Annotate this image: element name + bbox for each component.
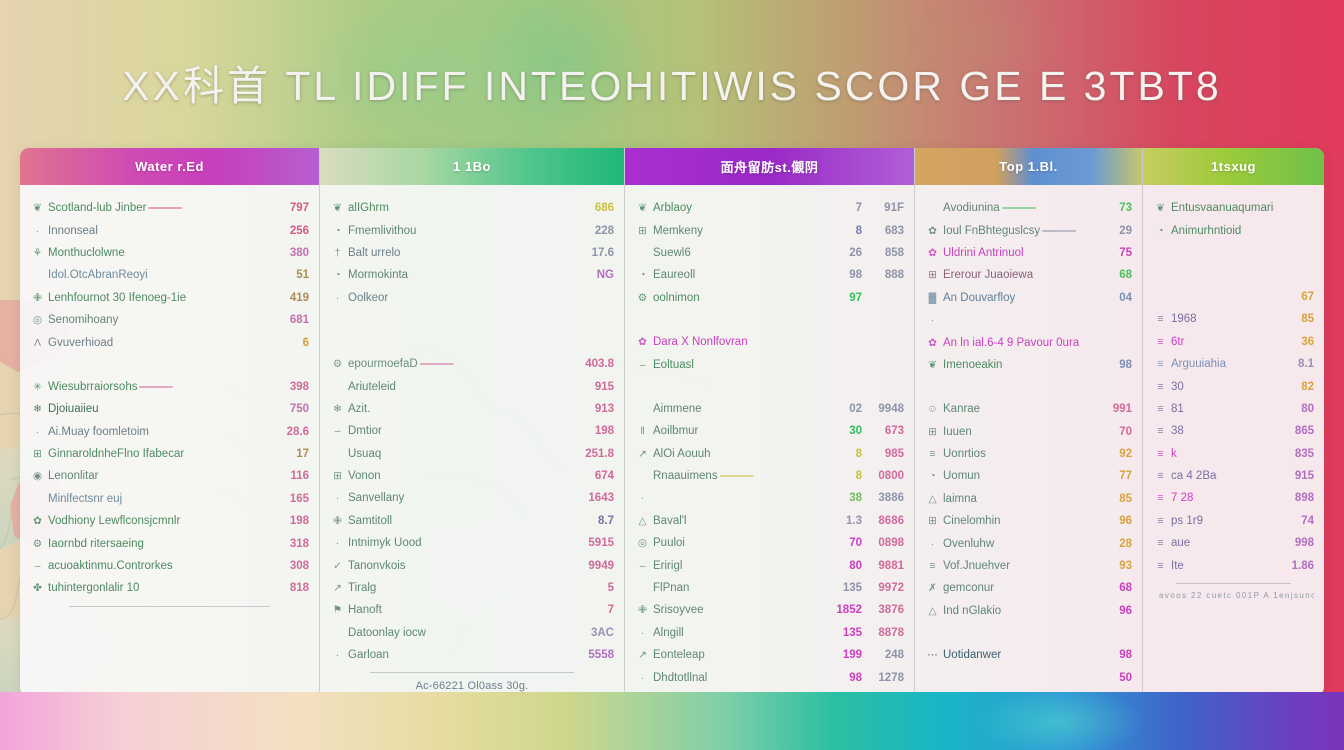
list-item[interactable]: ❄Azit.913 bbox=[330, 398, 614, 420]
list-item[interactable]: ⚑Hanoft7 bbox=[330, 599, 614, 621]
panel-body-5: ❦Entusvaanuaqumaria◔Animurhntioid 67≡196… bbox=[1143, 185, 1324, 696]
panel-board: Water r.Ed❦Scotland-lub Jinber797·Innons… bbox=[20, 148, 1324, 696]
list-item[interactable]: ⚘Monthuclolwne380 bbox=[30, 242, 309, 264]
value-primary: 198 bbox=[269, 515, 309, 527]
list-item[interactable]: ⊞Memkeny8683 bbox=[635, 219, 904, 241]
list-item[interactable]: Ariuteleid915 bbox=[330, 375, 614, 397]
list-item[interactable]: △Baval'l1.38686 bbox=[635, 510, 904, 532]
num-icon: ≡ bbox=[1153, 470, 1168, 482]
panel-body-3: ❦Arblaoy791F⊞Memkeny8683 Suewl626858◔Eau… bbox=[625, 185, 914, 696]
list-item-label: Aimmene bbox=[650, 403, 822, 415]
dash-icon: – bbox=[635, 560, 650, 572]
value-primary: 98 bbox=[1092, 359, 1132, 371]
list-item[interactable]: ·Ai.Muay foomletoim28.6 bbox=[30, 421, 309, 443]
list-item[interactable]: ·Intnimyk Uood5915 bbox=[330, 532, 614, 554]
value-primary: 50 bbox=[1092, 672, 1132, 684]
panel-footnote: Ac-66221 Ol0ass 30g. bbox=[330, 677, 614, 692]
list-item[interactable]: ↗AlOi Aouuh8985 bbox=[635, 443, 904, 465]
list-item[interactable]: ◔MormokintaNG bbox=[330, 264, 614, 286]
num-icon: ≡ bbox=[1153, 403, 1168, 415]
list-item[interactable]: ·Sanvellany1643 bbox=[330, 487, 614, 509]
panel-header-3[interactable]: 面舟留肪st.儭阴 bbox=[625, 148, 914, 185]
list-item[interactable]: FlPnan1359972 bbox=[635, 577, 904, 599]
value-primary: 02 bbox=[822, 403, 862, 415]
row-spacer bbox=[925, 376, 1132, 398]
sprout-icon: ✙ bbox=[330, 515, 345, 527]
list-item-label: oolnimon bbox=[650, 292, 822, 304]
list-item[interactable]: Avodiunina73 bbox=[925, 197, 1132, 219]
num-icon: ≡ bbox=[1153, 515, 1168, 527]
list-item-label: Ind nGlakio bbox=[940, 605, 1092, 617]
dash-icon: – bbox=[30, 560, 45, 572]
value-primary: 82 bbox=[1274, 381, 1314, 393]
value-primary: 17 bbox=[269, 448, 309, 460]
arrow-icon: ↗ bbox=[330, 582, 345, 594]
panel-2: 1 1Bo❦alIGhrm686◔Fmemlivithou228†Balt ur… bbox=[320, 148, 625, 696]
value-primary: 73 bbox=[1092, 202, 1132, 214]
list-item-label: Djoiuaiieu bbox=[45, 403, 269, 415]
list-item[interactable]: ≡Arguuiahia8.1 bbox=[1153, 353, 1314, 375]
list-item-label: Scotland-lub Jinber bbox=[45, 202, 269, 214]
list-item-label: 6tr bbox=[1168, 336, 1274, 348]
list-item[interactable]: ≡ca 4 2Ba915 bbox=[1153, 465, 1314, 487]
dot-icon: · bbox=[635, 627, 650, 639]
grid-icon: ⊞ bbox=[330, 470, 345, 482]
list-item[interactable]: ≡ps 1r974 bbox=[1153, 510, 1314, 532]
cross-icon: ✗ bbox=[925, 582, 940, 594]
list-item[interactable]: ≡3082 bbox=[1153, 375, 1314, 397]
blank-icon bbox=[330, 627, 345, 639]
list-item-label: 7 28 bbox=[1168, 492, 1274, 504]
value-primary: 80 bbox=[1274, 403, 1314, 415]
compass-icon: Λ bbox=[30, 337, 45, 349]
list-item-label: Dmtior bbox=[345, 425, 574, 437]
list-item[interactable]: ✿An ln ial.6-4 9 Pavour 0ura bbox=[925, 331, 1132, 353]
leaf-icon: ❦ bbox=[330, 202, 345, 214]
list-item-label: 38 bbox=[1168, 425, 1274, 437]
list-item[interactable]: ✿Ioul FnBhteguslcsy29 bbox=[925, 219, 1132, 241]
list-item[interactable]: –Eoltuasl bbox=[635, 353, 904, 375]
value-primary: 67 bbox=[1274, 291, 1314, 303]
list-item-label: Uonrtios bbox=[940, 448, 1092, 460]
list-item[interactable]: ≡6tr36 bbox=[1153, 331, 1314, 353]
list-item[interactable]: ◔Animurhntioid bbox=[1153, 219, 1314, 241]
list-item-label: Uldrini Antrinuol bbox=[940, 247, 1092, 259]
value-primary: 686 bbox=[574, 202, 614, 214]
list-item[interactable]: ≡7 28898 bbox=[1153, 487, 1314, 509]
list-item-label: Avodiunina bbox=[940, 202, 1092, 214]
list-item[interactable]: ⊞Cinelomhin96 bbox=[925, 510, 1132, 532]
list-item-label: Oolkeor bbox=[345, 292, 574, 304]
gear-icon: ⚙ bbox=[330, 358, 345, 370]
page-title: XX科首 TL IDIFF INTEOHITIWIS SCOR GE E 3TB… bbox=[0, 52, 1344, 112]
list-item-label: gemconur bbox=[940, 582, 1092, 594]
list-item-label: Arblaoy bbox=[650, 202, 822, 214]
list-item-label: AlOi Aouuh bbox=[650, 448, 822, 460]
value-primary: 308 bbox=[269, 560, 309, 572]
leader-line bbox=[139, 386, 173, 388]
row-spacer bbox=[925, 622, 1132, 644]
list-item-label: Sanvellany bbox=[345, 492, 574, 504]
list-item[interactable]: ⊞Iuuen70 bbox=[925, 421, 1132, 443]
tree-icon: † bbox=[330, 247, 345, 259]
screen-root: XX科首 TL IDIFF INTEOHITIWIS SCOR GE E 3TB… bbox=[0, 0, 1344, 750]
list-item[interactable]: ✤tuhintergonlalir 10818 bbox=[30, 577, 309, 599]
value-primary: 398 bbox=[269, 381, 309, 393]
value-primary: 98 bbox=[822, 672, 862, 684]
value-primary: 28.6 bbox=[269, 426, 309, 438]
list-item[interactable]: ❦Scotland-lub Jinber797 bbox=[30, 197, 309, 219]
leader-line bbox=[720, 475, 754, 477]
value-primary: 8.1 bbox=[1274, 358, 1314, 370]
list-item[interactable]: 67 bbox=[1153, 286, 1314, 308]
num-icon: ≡ bbox=[1153, 448, 1168, 460]
list-item-label: Lenhfournot 30 Ifenoeg-1ie bbox=[45, 292, 269, 304]
list-item[interactable]: Suewl626858 bbox=[635, 242, 904, 264]
list-item-label: Wiesubrraiorsohs bbox=[45, 381, 269, 393]
panel-header-1[interactable]: Water r.Ed bbox=[20, 148, 319, 185]
list-item[interactable]: Rnaauimens80800 bbox=[635, 465, 904, 487]
list-item[interactable]: Usuaq251.8 bbox=[330, 443, 614, 465]
list-item[interactable]: · bbox=[925, 309, 1132, 331]
flake-icon: ❄ bbox=[30, 403, 45, 415]
blank-icon bbox=[635, 403, 650, 415]
list-item-label: acuoaktinmu.Controrkes bbox=[45, 560, 269, 572]
value-primary: 6 bbox=[269, 337, 309, 349]
panel-header-4[interactable]: Top 1.Bl. bbox=[915, 148, 1142, 185]
sprout-icon: ✙ bbox=[30, 292, 45, 304]
grid-icon: ⊞ bbox=[925, 515, 940, 527]
list-item[interactable]: ❦Arblaoy791F bbox=[635, 197, 904, 219]
list-item-label: FlPnan bbox=[650, 582, 822, 594]
list-item[interactable]: ΛGvuverhioad6 bbox=[30, 331, 309, 353]
value-primary: 818 bbox=[269, 582, 309, 594]
value-primary: 991 bbox=[1092, 403, 1132, 415]
num-icon: ≡ bbox=[1153, 358, 1168, 370]
list-item[interactable]: ≡Uonrtios92 bbox=[925, 443, 1132, 465]
list-item-label: GinnaroldnheFlno Ifabecar bbox=[45, 448, 269, 460]
list-item-label: ps 1r9 bbox=[1168, 515, 1274, 527]
value-primary: 98 bbox=[822, 269, 862, 281]
list-item[interactable]: ≡196885 bbox=[1153, 308, 1314, 330]
list-item[interactable]: Datoonlay iocw3AC bbox=[330, 622, 614, 644]
value-primary: 68 bbox=[1092, 269, 1132, 281]
list-item[interactable]: ⊞Ererour Juaoiewa68 bbox=[925, 264, 1132, 286]
list-item[interactable]: ✳Wiesubrraiorsohs398 bbox=[30, 376, 309, 398]
dot-icon: · bbox=[330, 492, 345, 504]
blank-icon bbox=[925, 202, 940, 214]
panel-header-2[interactable]: 1 1Bo bbox=[320, 148, 624, 185]
list-item[interactable]: ⚙oolnimon97 bbox=[635, 287, 904, 309]
value-secondary: 91F bbox=[862, 202, 904, 214]
list-item[interactable]: ≡38865 bbox=[1153, 420, 1314, 442]
list-item[interactable]: ·Ovenluhw28 bbox=[925, 532, 1132, 554]
value-primary: 135 bbox=[822, 627, 862, 639]
dot-icon: · bbox=[635, 492, 650, 504]
list-item[interactable]: 50 bbox=[925, 666, 1132, 688]
list-item-label: Fmemlivithou bbox=[345, 225, 574, 237]
list-item[interactable]: ✗gemconur68 bbox=[925, 577, 1132, 599]
panel-footnote: avoos 22 cuetc 001P A 1enjsunom bbox=[1153, 588, 1314, 600]
list-item[interactable]: ◔Fmemlivithou228 bbox=[330, 219, 614, 241]
value-primary: 80 bbox=[822, 560, 862, 572]
list-item[interactable]: ☺Kanrae991 bbox=[925, 398, 1132, 420]
list-item[interactable]: ◔Uomun77 bbox=[925, 465, 1132, 487]
value-secondary: 9881 bbox=[862, 560, 904, 572]
value-primary: 96 bbox=[1092, 605, 1132, 617]
list-item[interactable]: ✙Samtitoll8.7 bbox=[330, 510, 614, 532]
value-primary: 26 bbox=[822, 247, 862, 259]
clock-icon: ◔ bbox=[330, 225, 345, 237]
list-item[interactable]: ⊞GinnaroldnheFlno Ifabecar17 bbox=[30, 443, 309, 465]
list-item[interactable]: △Ind nGlakio96 bbox=[925, 600, 1132, 622]
list-item[interactable]: ✿Vodhiony Lewflconsjcmnlr198 bbox=[30, 510, 309, 532]
check-icon: ✓ bbox=[330, 560, 345, 572]
value-primary: 8 bbox=[822, 448, 862, 460]
leaf-icon: ❦ bbox=[30, 202, 45, 214]
row-spacer bbox=[30, 354, 309, 376]
list-item[interactable]: ◔Eaureoll98888 bbox=[635, 264, 904, 286]
list-item[interactable]: ‖Aoilbmur30673 bbox=[635, 420, 904, 442]
value-primary: 85 bbox=[1092, 493, 1132, 505]
panel-body-2: ❦alIGhrm686◔Fmemlivithou228†Balt urrelo1… bbox=[320, 185, 624, 696]
list-item-label: Animurhntioid bbox=[1168, 225, 1274, 237]
plant-icon: ⚘ bbox=[30, 247, 45, 259]
gear-icon: ⚙ bbox=[635, 292, 650, 304]
blank-icon bbox=[330, 381, 345, 393]
list-item-label: Hanoft bbox=[345, 604, 574, 616]
panel-header-5[interactable]: 1tsxug bbox=[1143, 148, 1324, 185]
value-primary: 674 bbox=[574, 470, 614, 482]
list-item-label: Gvuverhioad bbox=[45, 337, 269, 349]
list-item[interactable]: ·Innonseal256 bbox=[30, 219, 309, 241]
list-item[interactable]: ·Alngill1358878 bbox=[635, 622, 904, 644]
dot-icon: · bbox=[330, 649, 345, 661]
dot-icon: · bbox=[635, 672, 650, 684]
value-primary: 5 bbox=[574, 582, 614, 594]
list-item-label: Rnaauimens bbox=[650, 470, 822, 482]
list-item-label: Dhdtotllnal bbox=[650, 672, 822, 684]
list-item[interactable]: –acuoaktinmu.Controrkes308 bbox=[30, 555, 309, 577]
list-item[interactable]: ·Garloan5558 bbox=[330, 644, 614, 666]
row-spacer bbox=[1153, 242, 1314, 264]
value-secondary: 8878 bbox=[862, 627, 904, 639]
list-item[interactable]: ✙Srisoyvee18523876 bbox=[635, 599, 904, 621]
value-primary: 9949 bbox=[574, 560, 614, 572]
clock-icon: ◔ bbox=[1153, 225, 1168, 237]
list-item[interactable]: ✓Tanonvkois9949 bbox=[330, 554, 614, 576]
value-primary: 93 bbox=[1092, 560, 1132, 572]
list-item-label: Puuloi bbox=[650, 537, 822, 549]
num-icon: ≡ bbox=[1153, 381, 1168, 393]
list-item-label: Kanrae bbox=[940, 403, 1092, 415]
value-secondary: 673 bbox=[862, 425, 904, 437]
list-item[interactable]: ❦Imenoeakin98 bbox=[925, 354, 1132, 376]
list-item[interactable]: ≡k835 bbox=[1153, 443, 1314, 465]
row-spacer bbox=[635, 309, 904, 331]
grid-icon: ⊞ bbox=[635, 225, 650, 237]
value-secondary: 3876 bbox=[862, 604, 904, 616]
blank-icon bbox=[635, 247, 650, 259]
num-icon: ≡ bbox=[1153, 336, 1168, 348]
value-primary: 1.86 bbox=[1274, 560, 1314, 572]
list-item-label: Ioul FnBhteguslcsy bbox=[940, 225, 1092, 237]
list-item[interactable]: Minlfectsnr euj165 bbox=[30, 488, 309, 510]
list-item-label: Memkeny bbox=[650, 225, 822, 237]
value-primary: 681 bbox=[269, 314, 309, 326]
list-item[interactable]: ⋯Uotidanwer98 bbox=[925, 644, 1132, 666]
list-item[interactable]: ❦Entusvaanuaqumaria bbox=[1153, 197, 1314, 219]
list-item-label: Arguuiahia bbox=[1168, 358, 1274, 370]
dot-icon: · bbox=[30, 426, 45, 438]
list-item[interactable]: ⊞Vonon674 bbox=[330, 465, 614, 487]
list-item-label: Garloan bbox=[345, 649, 574, 661]
gear-icon: ⚙ bbox=[30, 538, 45, 550]
value-primary: 403.8 bbox=[574, 358, 614, 370]
list-item[interactable]: ◎Puuloi700898 bbox=[635, 532, 904, 554]
value-primary: 797 bbox=[269, 202, 309, 214]
num-icon: ≡ bbox=[1153, 313, 1168, 325]
star-icon: ✳ bbox=[30, 381, 45, 393]
list-item[interactable]: ❄Djoiuaiieu750 bbox=[30, 398, 309, 420]
list-item[interactable]: ⚙Iaornbd ritersaeing318 bbox=[30, 532, 309, 554]
blank-icon bbox=[925, 672, 940, 684]
list-item-label: Srisoyvee bbox=[650, 604, 822, 616]
list-item[interactable]: ≡Ite1.86 bbox=[1153, 554, 1314, 576]
value-primary: 915 bbox=[574, 381, 614, 393]
list-item-label: Uomun bbox=[940, 470, 1092, 482]
panel-body-1: ❦Scotland-lub Jinber797·Innonseal256⚘Mon… bbox=[20, 185, 319, 696]
num-icon: ≡ bbox=[925, 448, 940, 460]
list-item[interactable]: –Eririgl809881 bbox=[635, 554, 904, 576]
num-icon: ≡ bbox=[1153, 560, 1168, 572]
list-item-label: Mormokinta bbox=[345, 269, 574, 281]
value-primary: 198 bbox=[574, 425, 614, 437]
list-item-label: Ai.Muay foomletoim bbox=[45, 426, 269, 438]
value-primary: 68 bbox=[1092, 582, 1132, 594]
value-primary: 251.8 bbox=[574, 448, 614, 460]
tri-icon: △ bbox=[635, 515, 650, 527]
list-item[interactable]: ◉Lenonlitar116 bbox=[30, 465, 309, 487]
list-item[interactable]: †Balt urrelo17.6 bbox=[330, 242, 614, 264]
list-item[interactable]: ≡aue998 bbox=[1153, 532, 1314, 554]
value-primary: 1.3 bbox=[822, 515, 862, 527]
list-item-label: Imenoeakin bbox=[940, 359, 1092, 371]
value-primary: 36 bbox=[1274, 336, 1314, 348]
num-icon: ≡ bbox=[1153, 537, 1168, 549]
list-item[interactable]: Aimmene029948 bbox=[635, 398, 904, 420]
value-secondary: 0800 bbox=[862, 470, 904, 482]
value-primary: 913 bbox=[574, 403, 614, 415]
value-primary: 135 bbox=[822, 582, 862, 594]
list-item[interactable]: ·Dhdtotllnal981278 bbox=[635, 666, 904, 688]
num-icon: ≡ bbox=[1153, 492, 1168, 504]
value-primary: 96 bbox=[1092, 515, 1132, 527]
list-item[interactable]: ·383886 bbox=[635, 487, 904, 509]
value-secondary: 985 bbox=[862, 448, 904, 460]
clover-icon: ✤ bbox=[30, 582, 45, 594]
bar-icon: ‖ bbox=[635, 425, 650, 437]
list-item[interactable]: ≡Vof.Jnuehver93 bbox=[925, 555, 1132, 577]
list-item-label: Intnimyk Uood bbox=[345, 537, 574, 549]
sprout-icon: ✙ bbox=[635, 604, 650, 616]
list-item[interactable]: ◎Senomihoany681 bbox=[30, 309, 309, 331]
list-item[interactable]: ⚙epourmoefaD403.8 bbox=[330, 353, 614, 375]
divider bbox=[69, 606, 270, 607]
list-item[interactable]: –Dmtior198 bbox=[330, 420, 614, 442]
list-item[interactable]: ·Oolkeor bbox=[330, 287, 614, 309]
dots-icon: ⋯ bbox=[925, 649, 940, 661]
list-item-label: Ererour Juaoiewa bbox=[940, 269, 1092, 281]
value-primary: 7 bbox=[822, 202, 862, 214]
target-icon: ◉ bbox=[30, 470, 45, 482]
list-item[interactable]: ▓An Douvarfloy04 bbox=[925, 287, 1132, 309]
flower-icon: ✿ bbox=[30, 515, 45, 527]
list-item-label: Iuuen bbox=[940, 426, 1092, 438]
blank-icon bbox=[635, 582, 650, 594]
row-spacer bbox=[635, 376, 904, 398]
value-primary: 865 bbox=[1274, 425, 1314, 437]
list-item-label: ca 4 2Ba bbox=[1168, 470, 1274, 482]
list-item[interactable]: ↗Tiralg5 bbox=[330, 577, 614, 599]
list-item-label: Cinelomhin bbox=[940, 515, 1092, 527]
list-item-label: Alngill bbox=[650, 627, 822, 639]
value-secondary: 8686 bbox=[862, 515, 904, 527]
list-item[interactable]: Idol.OtcAbranReoyi51 bbox=[30, 264, 309, 286]
list-item-label: Innonseal bbox=[45, 225, 269, 237]
list-item-label: An Douvarfloy bbox=[940, 292, 1092, 304]
list-item-label: An ln ial.6-4 9 Pavour 0ura bbox=[940, 337, 1092, 349]
blank-icon bbox=[30, 493, 45, 505]
list-item[interactable]: ✿Dara X Nonlfovran bbox=[635, 331, 904, 353]
flake-icon: ❄ bbox=[330, 403, 345, 415]
list-item-label: Entusvaanuaqumaria bbox=[1168, 202, 1274, 214]
clock-icon: ◔ bbox=[635, 269, 650, 281]
dash-icon: – bbox=[635, 359, 650, 371]
dot-icon: · bbox=[925, 538, 940, 550]
value-secondary: 683 bbox=[862, 225, 904, 237]
value-secondary: 248 bbox=[862, 649, 904, 661]
value-primary: 835 bbox=[1274, 448, 1314, 460]
list-item[interactable]: ≡8180 bbox=[1153, 398, 1314, 420]
list-item-label: Suewl6 bbox=[650, 247, 822, 259]
clock-icon: ◔ bbox=[925, 470, 940, 482]
list-item-label: Eonteleap bbox=[650, 649, 822, 661]
list-item[interactable]: ↗Eonteleap199248 bbox=[635, 644, 904, 666]
flower-icon: ✿ bbox=[925, 337, 940, 349]
value-secondary: 0898 bbox=[862, 537, 904, 549]
grid-icon: ⊞ bbox=[925, 426, 940, 438]
list-item-label: Vodhiony Lewflconsjcmnlr bbox=[45, 515, 269, 527]
value-primary: 116 bbox=[269, 470, 309, 482]
value-primary: 8 bbox=[822, 470, 862, 482]
value-primary: 30 bbox=[822, 425, 862, 437]
value-primary: 898 bbox=[1274, 492, 1314, 504]
panel-3: 面舟留肪st.儭阴❦Arblaoy791F⊞Memkeny8683 Suewl6… bbox=[625, 148, 915, 696]
value-primary: 165 bbox=[269, 493, 309, 505]
list-item[interactable]: ✙Lenhfournot 30 Ifenoeg-1ie419 bbox=[30, 287, 309, 309]
list-item[interactable]: ✿Uldrini Antrinuol75 bbox=[925, 242, 1132, 264]
tri-icon: △ bbox=[925, 605, 940, 617]
list-item[interactable]: ❦alIGhrm686 bbox=[330, 197, 614, 219]
leaf-icon: ❦ bbox=[1153, 202, 1168, 214]
list-item[interactable]: △laimna85 bbox=[925, 488, 1132, 510]
arrow-icon: ↗ bbox=[635, 448, 650, 460]
panel-body-4: Avodiunina73✿Ioul FnBhteguslcsy29✿Uldrin… bbox=[915, 185, 1142, 696]
value-primary: 256 bbox=[269, 225, 309, 237]
value-primary: 38 bbox=[822, 492, 862, 504]
list-item-label: Ite bbox=[1168, 560, 1274, 572]
